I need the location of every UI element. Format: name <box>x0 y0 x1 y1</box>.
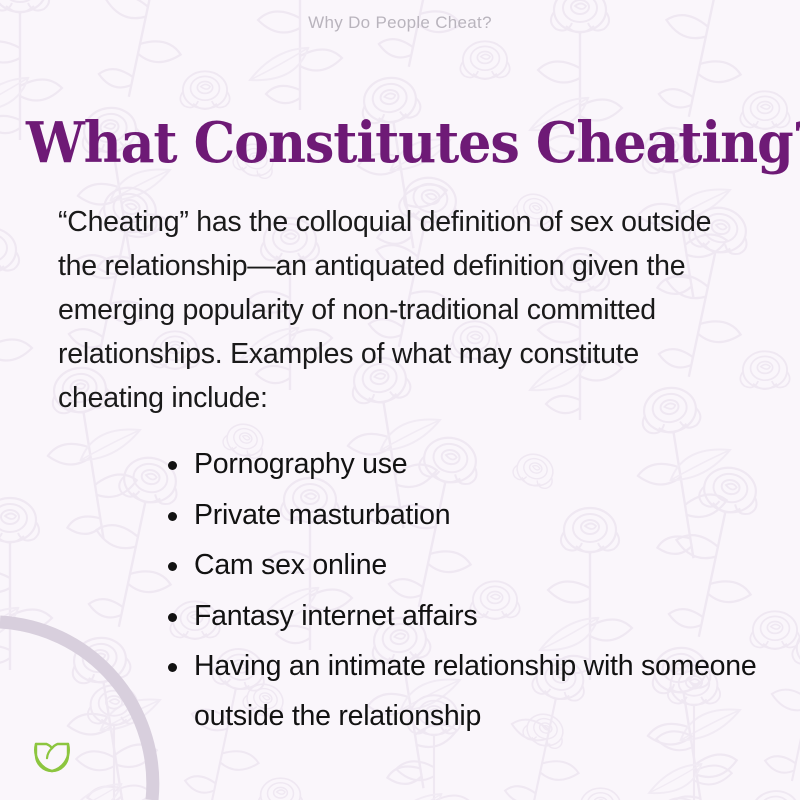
list-item-label: Pornography use <box>194 448 407 480</box>
bullet-dot-icon <box>168 562 177 571</box>
list-item-label: Private masturbation <box>194 499 450 531</box>
list-item: Cam sex online <box>166 541 766 591</box>
list-item: Fantasy internet affairs <box>166 592 766 642</box>
list-item-label: Fantasy internet affairs <box>194 600 477 632</box>
body-paragraph: “Cheating” has the colloquial definition… <box>58 200 746 420</box>
bullet-dot-icon <box>168 613 177 622</box>
examples-bullet-list: Pornography use Private masturbation Cam… <box>166 440 766 742</box>
list-item: Pornography use <box>166 440 766 490</box>
page-title: What Constitutes Cheating? <box>26 112 774 174</box>
list-item: Having an intimate relationship with som… <box>166 642 766 741</box>
list-item-label: Having an intimate relationship with som… <box>194 650 756 732</box>
slide-content: Why Do People Cheat? What Constitutes Ch… <box>0 0 800 800</box>
slide-canvas: Why Do People Cheat? What Constitutes Ch… <box>0 0 800 800</box>
bullet-dot-icon <box>168 663 177 672</box>
slide-kicker: Why Do People Cheat? <box>0 13 800 33</box>
list-item-label: Cam sex online <box>194 549 387 581</box>
list-item: Private masturbation <box>166 491 766 541</box>
bullet-dot-icon <box>168 512 177 521</box>
bullet-dot-icon <box>168 461 177 470</box>
lotus-leaf-logo-icon <box>26 728 78 780</box>
